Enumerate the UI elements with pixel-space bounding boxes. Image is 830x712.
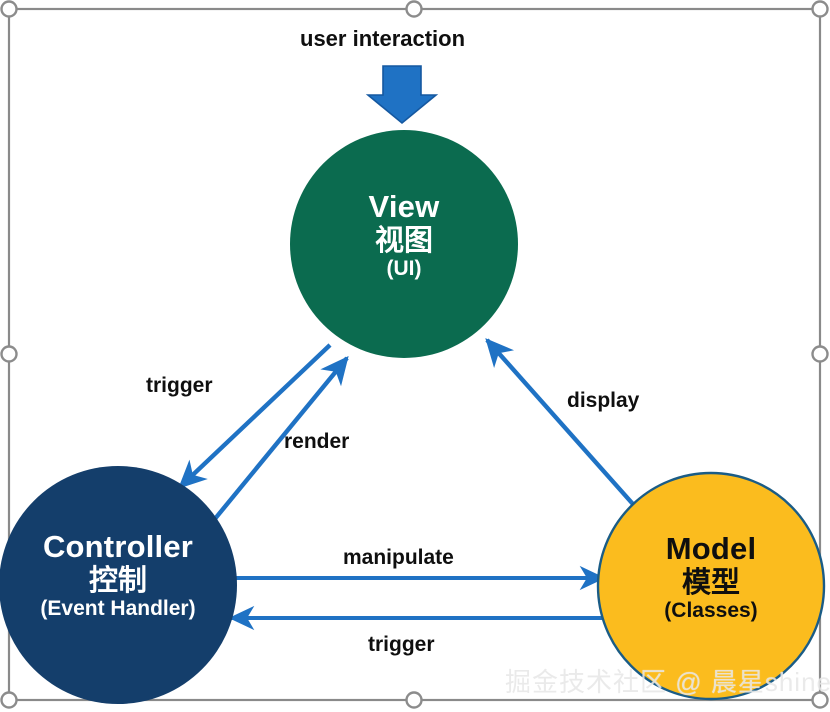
watermark-text: 掘金技术社区 @ 晨星shine [505, 662, 830, 699]
diagram-canvas: user interaction View 视图 (UI) Controller… [0, 0, 830, 712]
handle-bottom-left[interactable] [2, 693, 17, 708]
handle-top-left[interactable] [2, 2, 17, 17]
edge-label-render: render [284, 430, 349, 454]
edge-label-trigger-model-controller: trigger [368, 633, 435, 657]
edge-label-display: display [567, 389, 639, 413]
mvc-diagram [0, 0, 830, 712]
node-view-circle[interactable] [290, 130, 518, 358]
handle-bottom-center[interactable] [407, 693, 422, 708]
handle-middle-left[interactable] [2, 347, 17, 362]
node-controller-circle[interactable] [0, 466, 237, 704]
user-interaction-label: user interaction [300, 26, 465, 52]
handle-middle-right[interactable] [813, 347, 828, 362]
edge-label-trigger-view-controller: trigger [146, 374, 213, 398]
edge-user-to-view [368, 66, 436, 123]
user-interaction-block-arrow [368, 66, 436, 123]
edge-label-manipulate: manipulate [343, 546, 454, 570]
edge-model-to-view-line [487, 340, 640, 512]
handle-top-center[interactable] [407, 2, 422, 17]
handle-top-right[interactable] [813, 2, 828, 17]
edge-view-to-controller-line [180, 345, 330, 487]
